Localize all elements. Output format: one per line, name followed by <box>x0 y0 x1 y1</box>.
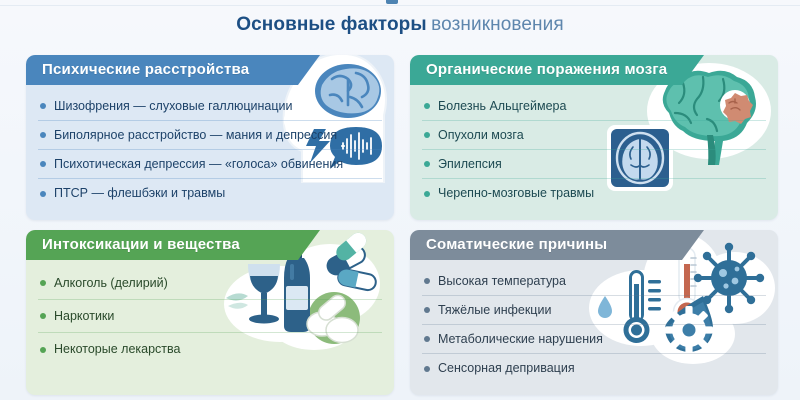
infographic-page: Основные факторы возникновения Психическ… <box>0 0 800 400</box>
cards-grid: Психические расстройства <box>26 55 778 395</box>
list-item-label: Сенсорная депривация <box>438 361 575 375</box>
list-item-label: Алкоголь (делирий) <box>54 276 168 290</box>
bullet-list-intoxications-substances: Алкоголь (делирий) Наркотики Некоторые л… <box>38 267 382 366</box>
list-item: Наркотики <box>38 300 382 333</box>
cropped-top-element <box>386 0 398 4</box>
list-item-label: Болезнь Альцгеймера <box>438 99 566 113</box>
card-body-intoxications-substances: Алкоголь (делирий) Наркотики Некоторые л… <box>26 260 394 395</box>
card-body-mental-disorders: Шизофрения — слуховые галлюцинации Бипол… <box>26 85 394 220</box>
list-item: Психотическая депрессия — «голоса» обвин… <box>38 150 382 179</box>
list-item: Биполярное расстройство — мания и депрес… <box>38 121 382 150</box>
list-item-label: Эпилепсия <box>438 157 502 171</box>
card-header-mental-disorders: Психические расстройства <box>26 55 394 85</box>
card-header-intoxications-substances: Интоксикации и вещества <box>26 230 394 260</box>
list-item: Черепно-мозговые травмы <box>422 179 766 208</box>
bullet-dot-icon <box>424 336 430 342</box>
list-item-label: Черепно-мозговые травмы <box>438 186 594 200</box>
list-item-label: Высокая температура <box>438 274 566 288</box>
page-title: Основные факторы возникновения <box>0 14 800 36</box>
bullet-dot-icon <box>40 280 46 286</box>
page-title-strong: Основные факторы <box>236 14 426 35</box>
list-item-label: Наркотики <box>54 309 114 323</box>
bullet-dot-icon <box>424 191 430 197</box>
list-item-label: Шизофрения — слуховые галлюцинации <box>54 99 293 113</box>
card-organic-brain-lesions: Органические поражения мозга <box>410 55 778 220</box>
bullet-dot-icon <box>424 161 430 167</box>
card-title-organic-brain-lesions: Органические поражения мозга <box>426 55 667 85</box>
list-item: Высокая температура <box>422 267 766 296</box>
card-title-intoxications-substances: Интоксикации и вещества <box>42 230 240 260</box>
list-item: Шизофрения — слуховые галлюцинации <box>38 92 382 121</box>
list-item-label: Метаболические нарушения <box>438 332 603 346</box>
bullet-list-organic-brain-lesions: Болезнь Альцгеймера Опухоли мозга Эпилеп… <box>422 92 766 208</box>
card-mental-disorders: Психические расстройства <box>26 55 394 220</box>
bullet-dot-icon <box>40 347 46 353</box>
card-title-mental-disorders: Психические расстройства <box>42 55 249 85</box>
list-item: Некоторые лекарства <box>38 333 382 366</box>
list-item-label: ПТСР — флешбэки и травмы <box>54 186 225 200</box>
card-somatic-causes: Соматические причины <box>410 230 778 395</box>
list-item: Метаболические нарушения <box>422 325 766 354</box>
bullet-dot-icon <box>424 132 430 138</box>
top-divider <box>0 5 800 6</box>
list-item-label: Психотическая депрессия — «голоса» обвин… <box>54 157 343 171</box>
card-body-organic-brain-lesions: Болезнь Альцгеймера Опухоли мозга Эпилеп… <box>410 85 778 220</box>
list-item: Эпилепсия <box>422 150 766 179</box>
list-item: Сенсорная депривация <box>422 354 766 383</box>
bullet-dot-icon <box>40 191 46 197</box>
list-item: Алкоголь (делирий) <box>38 267 382 300</box>
bullet-dot-icon <box>40 161 46 167</box>
card-body-somatic-causes: Высокая температура Тяжёлые инфекции Мет… <box>410 260 778 395</box>
list-item: Опухоли мозга <box>422 121 766 150</box>
list-item: ПТСР — флешбэки и травмы <box>38 179 382 208</box>
list-item-label: Биполярное расстройство — мания и депрес… <box>54 128 337 142</box>
bullet-dot-icon <box>424 103 430 109</box>
bullet-dot-icon <box>424 278 430 284</box>
card-intoxications-substances: Интоксикации и вещества <box>26 230 394 395</box>
bullet-dot-icon <box>424 307 430 313</box>
bullet-list-mental-disorders: Шизофрения — слуховые галлюцинации Бипол… <box>38 92 382 208</box>
card-title-somatic-causes: Соматические причины <box>426 230 607 260</box>
bullet-list-somatic-causes: Высокая температура Тяжёлые инфекции Мет… <box>422 267 766 383</box>
bullet-dot-icon <box>40 132 46 138</box>
bullet-dot-icon <box>424 366 430 372</box>
bullet-dot-icon <box>40 103 46 109</box>
list-item-label: Некоторые лекарства <box>54 342 180 356</box>
bullet-dot-icon <box>40 313 46 319</box>
list-item: Болезнь Альцгеймера <box>422 92 766 121</box>
list-item-label: Тяжёлые инфекции <box>438 303 551 317</box>
card-header-organic-brain-lesions: Органические поражения мозга <box>410 55 778 85</box>
list-item: Тяжёлые инфекции <box>422 296 766 325</box>
list-item-label: Опухоли мозга <box>438 128 524 142</box>
card-header-somatic-causes: Соматические причины <box>410 230 778 260</box>
page-title-light: возникновения <box>431 14 564 35</box>
